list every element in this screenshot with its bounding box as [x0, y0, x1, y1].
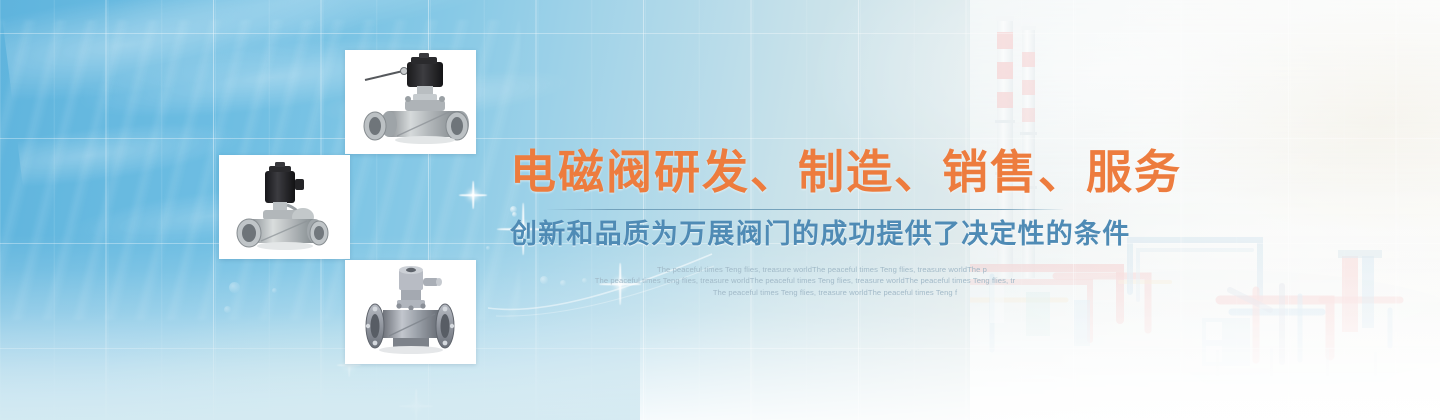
page-title: 电磁阀研发、制造、销售、服务: [510, 148, 1100, 198]
filler-paragraph: The peaceful times Teng flies, treasure …: [525, 264, 1085, 299]
filler-line-3: The peaceful times Teng flies, treasure …: [525, 287, 1085, 299]
banner-copy: 电磁阀研发、制造、销售、服务 创新和品质为万展阀门的成功提供了决定性的条件 Th…: [510, 148, 1100, 298]
promo-banner: 电磁阀研发、制造、销售、服务 创新和品质为万展阀门的成功提供了决定性的条件 Th…: [0, 0, 1440, 420]
title-divider: [547, 209, 1063, 210]
solenoid-valve-threaded-mid-image: [219, 155, 350, 259]
solenoid-valve-threaded-top-image: [345, 50, 476, 154]
product-thumbnail-2[interactable]: [219, 155, 350, 259]
page-subtitle: 创新和品质为万展阀门的成功提供了决定性的条件: [510, 219, 1100, 250]
solenoid-valve-flanged-image: [345, 260, 476, 364]
filler-line-2: The peaceful times Teng flies, treasure …: [525, 275, 1085, 287]
product-thumbnail-3[interactable]: [345, 260, 476, 364]
flange-left: [366, 304, 384, 348]
product-thumbnail-1[interactable]: [345, 50, 476, 154]
filler-line-1: The peaceful times Teng flies, treasure …: [525, 264, 1085, 276]
flange-right: [436, 304, 454, 348]
